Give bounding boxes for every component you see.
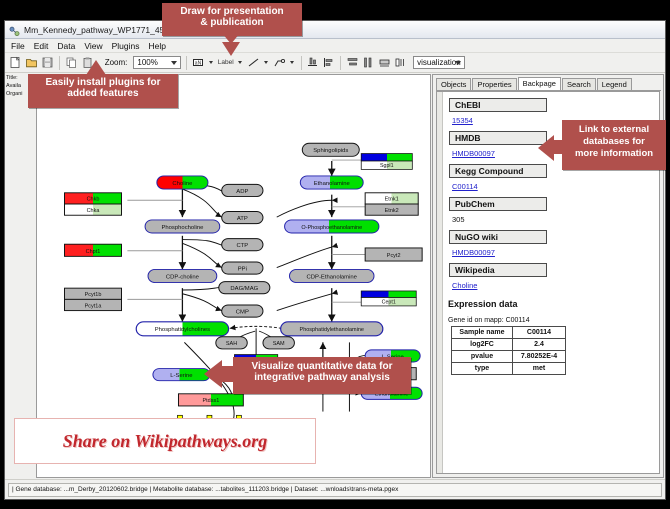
db-section-wikipedia: Wikipedia Choline (449, 257, 659, 290)
callout-visualize-line-1: Visualize quantitative data for (233, 361, 411, 372)
cell-key-sample-name: Sample name (452, 327, 513, 339)
callout-draw-for-presentation: Draw for presentation & publication (162, 3, 302, 36)
floppy-disk-icon[interactable] (41, 56, 54, 69)
distribute-horizontal-icon[interactable] (362, 56, 375, 69)
callout-links-line-3: more information (562, 148, 666, 160)
node-atp[interactable]: ATP (222, 211, 263, 223)
node-phosphatidylethanolamine[interactable]: Phosphatidylethanolamine (281, 322, 383, 336)
tab-search[interactable]: Search (562, 78, 596, 90)
toolbar-separator-3 (301, 56, 302, 70)
node-chkb[interactable]: Chkb (65, 193, 122, 204)
svg-text:DAG/MAG: DAG/MAG (230, 286, 258, 292)
node-ethanolamine-top[interactable]: Ethanolamine (300, 176, 363, 189)
menu-item-help[interactable]: Help (149, 41, 166, 51)
db-label-nugo: NuGO wiki (449, 230, 547, 244)
node-phosphatidylcholine[interactable]: Phosphatidylcholines (136, 322, 228, 336)
datanode-icon[interactable]: aN (192, 56, 205, 69)
svg-text:Phosphatidylcholines: Phosphatidylcholines (155, 327, 210, 333)
db-label-chebi: ChEBI (449, 98, 547, 112)
table-row: log2FC 2.4 (452, 339, 566, 351)
node-pcyt2[interactable]: Pcyt2 (365, 248, 422, 261)
callout-visualize-data: Visualize quantitative data for integrat… (233, 357, 411, 394)
visualization-select[interactable]: visualization (413, 56, 465, 69)
node-ctp[interactable]: CTP (222, 239, 263, 251)
svg-text:Etnk1: Etnk1 (385, 197, 399, 203)
table-row: type met (452, 363, 566, 375)
node-l-serine-left[interactable]: L-Serine (153, 369, 210, 381)
node-etnk2[interactable]: Etnk2 (365, 204, 418, 215)
svg-text:Phosphocholine: Phosphocholine (161, 225, 203, 231)
callout-external-links: Link to external databases for more info… (562, 120, 666, 170)
node-cdp-choline[interactable]: CDP-choline (148, 269, 217, 282)
panel-scrollbar[interactable] (437, 92, 443, 473)
svg-text:Pcyt1a: Pcyt1a (85, 303, 102, 309)
chevron-down-icon[interactable] (264, 61, 268, 64)
node-cept1[interactable]: Cept1 (361, 291, 416, 306)
share-text: Share on Wikipathways.org (63, 431, 268, 452)
table-row: Sample name C00114 (452, 327, 566, 339)
svg-text:SAH: SAH (226, 341, 237, 347)
align-left-icon[interactable] (322, 56, 335, 69)
callout-install-plugins: Easily install plugins for added feature… (28, 74, 178, 108)
callout-links-line-2: databases for (562, 136, 666, 148)
status-text: | Gene database: ...m_Derby_20120602.bri… (12, 486, 398, 493)
chevron-down-icon[interactable] (290, 61, 294, 64)
node-ppi[interactable]: PPi (222, 262, 263, 274)
zoom-input[interactable]: 100% (133, 56, 181, 69)
svg-text:ADP: ADP (236, 189, 248, 195)
node-adp[interactable]: ADP (222, 184, 263, 196)
chevron-down-icon[interactable] (171, 61, 177, 65)
callout-plugins-line-2: added features (28, 88, 178, 99)
db-label-pubchem: PubChem (449, 197, 547, 211)
cell-key-pvalue: pvalue (452, 351, 513, 363)
callout-plugins-stem (91, 72, 101, 78)
toolbar-separator-2 (186, 56, 187, 70)
menu-item-edit[interactable]: Edit (34, 41, 49, 51)
tab-legend[interactable]: Legend (597, 78, 632, 90)
db-section-nugo: NuGO wiki HMDB00097 (449, 224, 659, 257)
menu-item-file[interactable]: File (11, 41, 25, 51)
node-dagmag[interactable]: DAG/MAG (219, 282, 270, 294)
db-label-hmdb: HMDB (449, 131, 547, 145)
svg-text:CMP: CMP (236, 309, 249, 315)
node-sgpl1[interactable]: Sgpl1 (361, 154, 412, 170)
callout-links-stem (552, 140, 564, 154)
callout-draw-line-2: & publication (162, 17, 302, 28)
zoom-label: Zoom: (105, 58, 128, 67)
db-link-nugo[interactable]: HMDB00097 (452, 248, 659, 257)
svg-text:aN: aN (195, 60, 202, 66)
svg-text:Chka: Chka (87, 208, 100, 214)
tab-properties[interactable]: Properties (472, 78, 516, 90)
svg-text:O-Phosphoethanolamine: O-Phosphoethanolamine (301, 225, 362, 231)
node-pcyt1b[interactable]: Pcyt1b (65, 288, 122, 299)
node-ptdss1[interactable]: Ptdss1 (178, 394, 243, 406)
svg-text:Chkb: Chkb (87, 197, 100, 203)
svg-text:Cept1: Cept1 (382, 300, 396, 306)
chevron-down-icon[interactable] (209, 61, 213, 64)
svg-text:SAM: SAM (273, 341, 285, 347)
svg-text:ATP: ATP (237, 216, 248, 222)
svg-text:CDP-choline: CDP-choline (166, 274, 199, 280)
cell-value-pvalue: 7.80252E-4 (513, 351, 566, 363)
svg-text:Choline: Choline (172, 181, 192, 187)
gene-id-label: Gene id on mapp: C00114 (448, 317, 659, 324)
cell-value-sample-name: C00114 (513, 327, 566, 339)
svg-text:Etnk2: Etnk2 (385, 208, 399, 214)
svg-text:L-Serine: L-Serine (170, 373, 192, 379)
pathvisio-app-icon (9, 24, 20, 35)
svg-text:Phosphatidylethanolamine: Phosphatidylethanolamine (300, 327, 364, 333)
new-document-icon[interactable] (9, 56, 22, 69)
pathway-diagram[interactable]: Sphingolipids Ethanolamine Choline ADP (37, 75, 430, 477)
menu-item-plugins[interactable]: Plugins (112, 41, 140, 51)
node-etnk1[interactable]: Etnk1 (365, 193, 418, 204)
cell-key-log2fc: log2FC (452, 339, 513, 351)
node-sphingolipids[interactable]: Sphingolipids (302, 143, 359, 156)
svg-text:Chpt1: Chpt1 (86, 249, 101, 255)
node-cmp[interactable]: CMP (222, 305, 263, 317)
node-sah[interactable]: SAH (216, 337, 247, 349)
node-sam[interactable]: SAM (263, 337, 294, 349)
db-link-wikipedia[interactable]: Choline (452, 281, 659, 290)
svg-text:CTP: CTP (236, 243, 248, 249)
chevron-down-icon[interactable] (455, 61, 461, 65)
node-choline-top[interactable]: Choline (157, 176, 208, 189)
side-panel-tabs: Objects Properties Backpage Search Legen… (436, 77, 661, 91)
open-folder-icon[interactable] (25, 56, 38, 69)
interaction-icon[interactable] (273, 56, 286, 69)
db-label-wikipedia: Wikipedia (449, 263, 547, 277)
chevron-down-icon[interactable] (238, 61, 242, 64)
menu-item-data[interactable]: Data (57, 41, 75, 51)
title-bar: Mm_Kennedy_pathway_WP1771_45176.gpml (5, 21, 665, 39)
db-label-kegg: Kegg Compound (449, 164, 547, 178)
node-cdp-ethanolamine[interactable]: CDP-Ethanolamine (290, 269, 374, 282)
node-pcyt1a[interactable]: Pcyt1a (65, 299, 122, 310)
db-link-kegg[interactable]: C00114 (452, 182, 659, 191)
zoom-value: 100% (137, 58, 157, 67)
callout-draw-line-1: Draw for presentation (162, 6, 302, 17)
db-value-pubchem: 305 (452, 215, 659, 224)
callout-visualize-line-2: integrative pathway analysis (233, 372, 411, 383)
callout-share-wikipathways: Share on Wikipathways.org (14, 418, 316, 464)
status-bar: | Gene database: ...m_Derby_20120602.bri… (5, 479, 665, 499)
line-icon[interactable] (247, 56, 260, 69)
screenshot-root: Mm_Kennedy_pathway_WP1771_45176.gpml Fil… (0, 0, 670, 509)
expression-data-heading: Expression data (448, 299, 659, 309)
label-icon[interactable]: Label (218, 59, 234, 66)
callout-plugins-line-1: Easily install plugins for (28, 77, 178, 88)
svg-text:Ptdss1: Ptdss1 (203, 398, 220, 404)
callout-links-line-1: Link to external (562, 124, 666, 136)
menu-item-view[interactable]: View (84, 41, 102, 51)
node-phosphocholine[interactable]: Phosphocholine (145, 220, 220, 233)
expression-data-table: Sample name C00114 log2FC 2.4 pvalue 7.8… (451, 326, 566, 375)
cell-key-type: type (452, 363, 513, 375)
svg-text:Ethanolamine: Ethanolamine (314, 181, 350, 187)
svg-text:Pcyt1b: Pcyt1b (85, 292, 102, 298)
node-chka[interactable]: Chka (65, 204, 122, 215)
toolbar-separator-1 (59, 56, 60, 70)
menu-bar: File Edit Data View Plugins Help (5, 39, 665, 53)
db-section-pubchem: PubChem 305 (449, 191, 659, 224)
table-row: pvalue 7.80252E-4 (452, 351, 566, 363)
tab-backpage[interactable]: Backpage (518, 77, 561, 90)
distribute-vertical-icon[interactable] (346, 56, 359, 69)
svg-text:Pcyt2: Pcyt2 (387, 253, 401, 259)
toolbar-separator-4 (340, 56, 341, 70)
node-chpt1[interactable]: Chpt1 (65, 244, 122, 256)
align-top-icon[interactable] (306, 56, 319, 69)
ungroup-icon[interactable] (394, 56, 407, 69)
callout-draw-arrow-down (222, 42, 240, 56)
group-icon[interactable] (378, 56, 391, 69)
svg-text:Sphingolipids: Sphingolipids (313, 148, 348, 154)
svg-text:CDP-Ethanolamine: CDP-Ethanolamine (307, 274, 357, 280)
callout-visualize-stem (220, 366, 236, 382)
status-bar-field: | Gene database: ...m_Derby_20120602.bri… (8, 483, 662, 497)
node-o-phosphoethanolamine[interactable]: O-Phosphoethanolamine (285, 220, 379, 233)
svg-text:Sgpl1: Sgpl1 (380, 163, 394, 169)
tab-objects[interactable]: Objects (436, 78, 471, 90)
copy-icon[interactable] (65, 56, 78, 69)
cell-value-type: met (513, 363, 566, 375)
svg-text:PPi: PPi (238, 266, 247, 272)
cell-value-log2fc: 2.4 (513, 339, 566, 351)
